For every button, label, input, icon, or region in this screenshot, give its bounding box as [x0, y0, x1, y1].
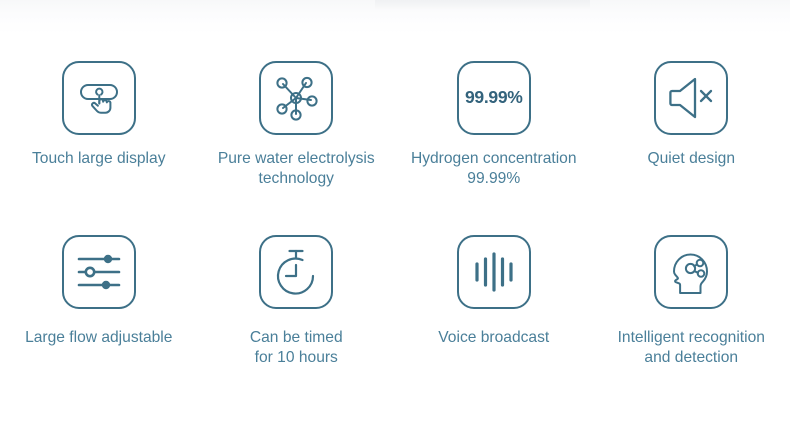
- icon-frame: [259, 61, 333, 135]
- feature-label: Quiet design: [647, 149, 735, 169]
- touchscreen-display-icon: [76, 75, 122, 121]
- hydrogen-concentration-badge-icon: 99.99%: [465, 89, 523, 107]
- feature-grid: Touch large display: [0, 0, 790, 423]
- feature-label: Voice broadcast: [438, 328, 549, 348]
- icon-frame: [654, 235, 728, 309]
- feature-cell-pure-water-electrolysis[interactable]: Pure water electrolysis technology: [198, 7, 396, 215]
- molecule-network-icon: [272, 74, 320, 122]
- feature-cell-voice-broadcast[interactable]: Voice broadcast: [395, 215, 593, 423]
- icon-frame: [457, 235, 531, 309]
- ai-head-recognition-icon: [667, 248, 715, 296]
- feature-label: Can be timed for 10 hours: [250, 328, 343, 368]
- stopwatch-timer-icon: [273, 248, 319, 296]
- sliders-adjust-icon: [76, 252, 122, 292]
- voice-waveform-icon: [472, 251, 516, 293]
- feature-grid-page: Touch large display: [0, 0, 790, 423]
- speaker-mute-icon: [668, 76, 714, 120]
- icon-frame: [62, 61, 136, 135]
- feature-cell-quiet-design[interactable]: Quiet design: [593, 7, 790, 215]
- feature-label: Hydrogen concentration 99.99%: [411, 149, 577, 189]
- feature-cell-hydrogen-concentration[interactable]: 99.99% Hydrogen concentration 99.99%: [395, 7, 593, 215]
- feature-label: Large flow adjustable: [25, 328, 172, 348]
- feature-cell-large-flow-adjustable[interactable]: Large flow adjustable: [0, 215, 198, 423]
- feature-cell-can-be-timed[interactable]: Can be timed for 10 hours: [198, 215, 396, 423]
- feature-label: Touch large display: [32, 149, 166, 169]
- feature-label: Intelligent recognition and detection: [618, 328, 765, 368]
- icon-frame: [654, 61, 728, 135]
- icon-frame: [62, 235, 136, 309]
- feature-cell-intelligent-recognition[interactable]: Intelligent recognition and detection: [593, 215, 790, 423]
- icon-frame: 99.99%: [457, 61, 531, 135]
- feature-cell-touch-large-display[interactable]: Touch large display: [0, 7, 198, 215]
- icon-frame: [259, 235, 333, 309]
- feature-label: Pure water electrolysis technology: [218, 149, 375, 189]
